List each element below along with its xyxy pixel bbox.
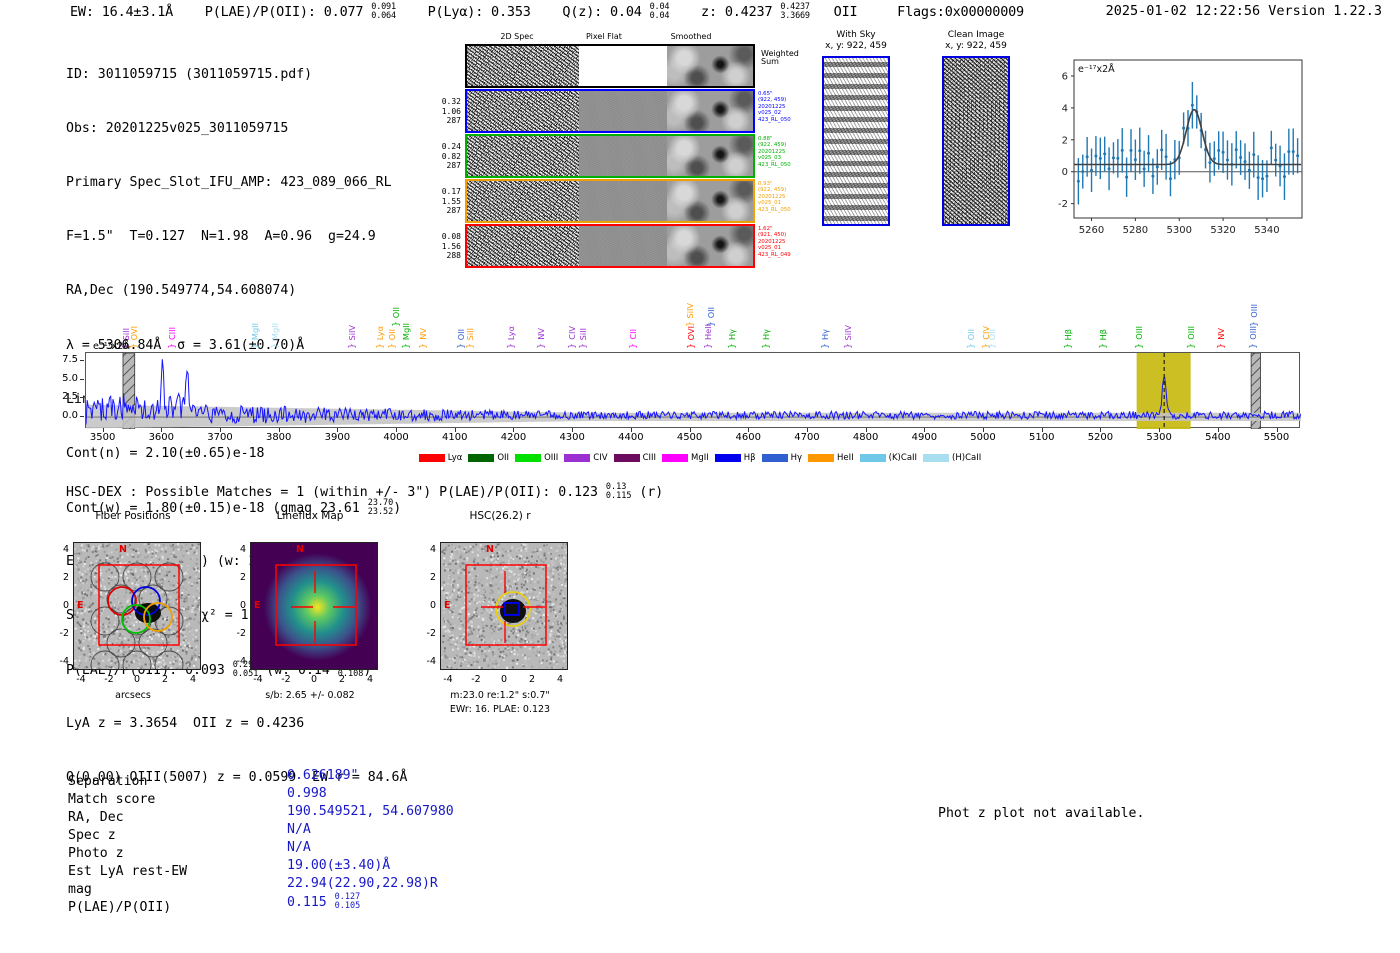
legend-label: MgII (691, 453, 709, 463)
cutout-panel-title: HSC(26.2) r (420, 510, 580, 522)
image-cutouts-group: With Skyx, y: 922, 459Clean Imagex, y: 9… (810, 30, 1030, 260)
cutout-xtick-label: 2 (330, 674, 354, 685)
smoothed-cutout (667, 136, 753, 176)
strip-stats: 0.321.06287 (425, 97, 461, 126)
pixel-flat-cutout (579, 226, 668, 266)
svg-text:6: 6 (1062, 71, 1068, 82)
pixel-flat-cutout (579, 136, 668, 176)
spectrum-line-bracket: { (1062, 343, 1072, 349)
legend-swatch (614, 454, 640, 462)
header-redshift-range: 0.42373.3669 (780, 3, 810, 21)
compass-east: E (444, 600, 451, 611)
svg-text:2: 2 (1062, 135, 1068, 146)
spectrum-xtick-label: 4900 (902, 432, 946, 443)
legend-swatch (808, 454, 834, 462)
spec2d-cutout (467, 181, 579, 221)
spectrum-ytick (80, 379, 84, 380)
cutout-ytick-label: 4 (224, 544, 246, 555)
spectrum-units-label: e⁻¹⁷x2Å (93, 341, 130, 352)
spectrum-line-bracket: { (1097, 343, 1107, 349)
spectrum-line-bracket: { (535, 343, 545, 349)
pixel-flat-cutout (579, 181, 668, 221)
compass-north: N (119, 544, 127, 555)
header-qz-range: 0.040.04 (650, 3, 670, 21)
cutout-ytick-label: 2 (47, 572, 69, 583)
emission-line-profile-plot: 52605280530053205340-20246e⁻¹⁷x2Å (1040, 52, 1310, 252)
match-row-label: Match score (68, 791, 187, 809)
spectrum-line-bracket: { (166, 343, 176, 349)
svg-text:e⁻¹⁷x2Å: e⁻¹⁷x2Å (1078, 63, 1115, 75)
header-flags: Flags:0x00000009 (897, 4, 1024, 20)
cutout-ytick-label: -2 (414, 628, 436, 639)
spectrum-xtick-label: 4300 (550, 432, 594, 443)
cutout-xtick-label: 0 (492, 674, 516, 685)
spectrum-line-label: Hγ (761, 329, 771, 340)
strip-header: Smoothed (661, 32, 721, 41)
cutout-xlabel: s/b: 2.65 +/- 0.082 (228, 690, 392, 701)
header-summary-line: EW: 16.4±3.1Å P(LAE)/P(OII): 0.077 0.091… (70, 3, 1024, 21)
cutout-xtick-label: -4 (246, 674, 270, 685)
cutout-xtick-label: -4 (436, 674, 460, 685)
photz-message: Phot z plot not available. (938, 806, 1144, 821)
spectrum-xtick-label: 4000 (374, 432, 418, 443)
spec2d-strip-row (465, 134, 755, 178)
cutout-ytick-label: -4 (224, 656, 246, 667)
svg-text:-2: -2 (1058, 199, 1068, 210)
legend-item: (K)CaII (860, 453, 917, 463)
spectrum-ytick (80, 416, 84, 417)
legend-swatch (715, 454, 741, 462)
svg-text:5340: 5340 (1254, 225, 1279, 236)
spectrum-line-bracket: { (346, 343, 356, 349)
strip-stats: 0.081.56288 (425, 232, 461, 261)
spectrum-legend: LyαOIIOIIICIVCIIIMgIIHβHγHeII(K)CaII(H)C… (380, 450, 1020, 466)
legend-swatch (923, 454, 949, 462)
spectrum-xtick-label: 4400 (609, 432, 653, 443)
legend-label: HeII (837, 453, 854, 463)
spec2d-cutout (467, 226, 579, 266)
header-plae-poii: P(LAE)/P(OII): 0.077 (205, 4, 364, 20)
spectrum-xtick-label: 5300 (1137, 432, 1181, 443)
cutout-xtick-label: -2 (464, 674, 488, 685)
spec2d-cutout (467, 91, 579, 131)
spectrum-line-label: SiIV (685, 303, 695, 319)
legend-label: (K)CaII (889, 453, 917, 463)
match-row-value: 22.94(22.90,22.98)R (287, 875, 454, 893)
legend-label: Hγ (791, 453, 802, 463)
spectrum-line-label: OIII (1186, 326, 1196, 340)
legend-item: CIII (614, 453, 656, 463)
spectrum-line-label: Lyα (375, 326, 385, 340)
hscdex-summary-line: HSC-DEX : Possible Matches = 1 (within +… (66, 483, 663, 501)
strip-stats: 0.240.82287 (425, 142, 461, 171)
cutout-ytick-label: 0 (414, 600, 436, 611)
svg-text:5280: 5280 (1123, 225, 1148, 236)
spectrum-line-bracket: { (269, 343, 279, 349)
spectrum-line-bracket: { (1248, 321, 1258, 327)
info-line-id: ID: 3011059715 (3011059715.pdf) (66, 66, 407, 84)
legend-item: (H)CaII (923, 453, 981, 463)
spectrum-line-label: SiII (578, 328, 588, 340)
spectrum-line-label: Lyα (506, 326, 516, 340)
legend-item: OII (468, 453, 509, 463)
spectrum-xtick-label: 5400 (1196, 432, 1240, 443)
compass-east: E (254, 600, 261, 611)
strip-metadata: 0.65"(922, 459)20201225v025_02423_RL_050 (758, 91, 806, 123)
spectrum-line-bracket: { (374, 343, 384, 349)
svg-text:5320: 5320 (1210, 225, 1235, 236)
spectrum-line-label: OII (387, 329, 397, 340)
spectrum-line-label: OVI (686, 326, 696, 340)
spectrum-line-bracket: { (683, 321, 693, 327)
spectrum-y-axis: 0.02.55.07.5 (40, 346, 84, 436)
spectrum-line-bracket: { (986, 343, 996, 349)
strip-metadata: 0.88"(922, 459)20201225v025_03423_RL_050 (758, 136, 806, 168)
spectrum-line-label: Hβ (1098, 329, 1108, 340)
cutout-xtick-label: -2 (274, 674, 298, 685)
cutout-xtick-label: 4 (181, 674, 205, 685)
spectrum-ytick-label: 5.0 (40, 373, 78, 384)
match-row-value: N/A (287, 839, 454, 857)
legend-swatch (762, 454, 788, 462)
spectrum-line-label: OIII (1134, 326, 1144, 340)
spec2d-cutout (467, 136, 579, 176)
header-redshift: z: 0.4237 (701, 4, 772, 20)
spectrum-line-label: NV (536, 328, 546, 340)
match-row-label: RA, Dec (68, 809, 187, 827)
match-row-label: P(LAE)/P(OII) (68, 899, 187, 917)
spec2d-cutout (467, 46, 579, 86)
pixel-flat-cutout (579, 91, 668, 131)
spectrum-xtick-label: 4600 (726, 432, 770, 443)
cutout-ytick-label: -4 (414, 656, 436, 667)
cutout-image (250, 542, 378, 670)
spectrum-line-label: Hγ (727, 329, 737, 340)
spectrum-ytick-label: 0.0 (40, 410, 78, 421)
cutout-xtick-label: 2 (520, 674, 544, 685)
spectrum-xtick-label: 4100 (433, 432, 477, 443)
spec2d-strip-row (465, 89, 755, 133)
legend-label: Hβ (744, 453, 756, 463)
info-line-primary-spec: Primary Spec_Slot_IFU_AMP: 423_089_066_R… (66, 174, 407, 192)
spectrum-x-axis: 3500360037003800390040004100420043004400… (85, 428, 1300, 448)
cutout-xlabel: arcsecs (51, 690, 215, 701)
match-row-value: 190.549521, 54.607980 (287, 803, 454, 821)
clean-image (942, 56, 1010, 226)
cutout-title: Clean Imagex, y: 922, 459 (922, 30, 1030, 52)
legend-label: Lyα (448, 453, 463, 463)
spectrum-line-bracket: { (400, 343, 410, 349)
cutout-sublabel: EWr: 16. PLAE: 0.123 (418, 704, 582, 715)
spectrum-line-bracket: { (627, 343, 637, 349)
legend-label: CIV (593, 453, 607, 463)
full-spectrum-plot (85, 352, 1300, 428)
smoothed-cutout (667, 226, 753, 266)
cutout-image (440, 542, 568, 670)
spectrum-line-label: CII (628, 329, 638, 340)
spectrum-line-bracket: { (818, 343, 828, 349)
cutout-xtick-label: 0 (302, 674, 326, 685)
spectrum-xtick-label: 4200 (491, 432, 535, 443)
svg-text:4: 4 (1062, 103, 1068, 114)
cutout-panel-title: Fiber Positions (53, 510, 213, 522)
cutout-ytick-label: 0 (47, 600, 69, 611)
match-row-value: 0.998 (287, 785, 454, 803)
spectrum-line-label: Hγ (820, 329, 830, 340)
svg-text:5300: 5300 (1167, 225, 1192, 236)
spec2d-strip-group: 2D SpecPixel FlatSmoothedWeightedSum0.32… (425, 32, 770, 257)
spectrum-line-label: SiIV (843, 325, 853, 341)
compass-north: N (486, 544, 494, 555)
match-row-value: 0.115 0.1270.105 (287, 893, 454, 911)
legend-swatch (860, 454, 886, 462)
spectrum-line-label: SiII (465, 328, 475, 340)
spectrum-ytick (80, 397, 84, 398)
spec2d-strip-row (465, 224, 755, 268)
spectrum-xtick-label: 3600 (139, 432, 183, 443)
header-qz: Q(z): 0.04 (562, 4, 641, 20)
spectrum-xtick-label: 5500 (1255, 432, 1299, 443)
spectrum-xtick-label: 5100 (1020, 432, 1064, 443)
legend-label: OII (497, 453, 509, 463)
cutout-panel: Lineflux MapNE-4-4-2-2002244s/b: 2.65 +/… (240, 510, 440, 740)
strip-metadata: 0.93"(922, 459)20201225v025_01423_RL_050 (758, 181, 806, 213)
cutout-image (73, 542, 201, 670)
spectrum-line-bracket: { (390, 321, 400, 327)
cutout-panels-group: Fiber PositionsNE-4-4-2-2002244arcsecsLi… (55, 510, 675, 740)
header-datetime: 2025-01-02 12:22:56 Version 1.22.3 (1106, 3, 1382, 19)
match-row-label: Photo z (68, 845, 187, 863)
legend-label: (H)CaII (952, 453, 981, 463)
match-row-label: mag (68, 881, 187, 899)
cutout-xtick-label: 0 (125, 674, 149, 685)
cutout-xlabel: m:23.0 re:1.2" s:0.7" (418, 690, 582, 701)
spectrum-line-bracket: { (249, 343, 259, 349)
legend-item: Hβ (715, 453, 756, 463)
spectrum-line-label: NV (418, 328, 428, 340)
spectrum-ytick-label: 7.5 (40, 354, 78, 365)
smoothed-cutout (667, 46, 753, 86)
spectrum-line-label: OIII (1248, 326, 1258, 340)
info-line-obs: Obs: 20201225v025_3011059715 (66, 120, 407, 138)
spectrum-line-bracket: { (685, 343, 695, 349)
spectrum-xtick-label: 3700 (198, 432, 242, 443)
pixel-flat-cutout (579, 46, 668, 86)
spectrum-line-bracket: { (566, 343, 576, 349)
spectrum-line-bracket: { (417, 343, 427, 349)
match-table-values: 0.626189"0.998190.549521, 54.607980N/AN/… (287, 767, 454, 911)
cutout-ytick-label: -2 (224, 628, 246, 639)
header-species: OII (834, 4, 858, 20)
spectrum-line-bracket: { (386, 343, 396, 349)
cutout-panel: HSC(26.2) rNE-4-4-2-2002244m:23.0 re:1.2… (430, 510, 630, 740)
legend-swatch (564, 454, 590, 462)
match-row-value: N/A (287, 821, 454, 839)
legend-item: MgII (662, 453, 709, 463)
cutout-xtick-label: 4 (358, 674, 382, 685)
spectrum-line-bracket: { (1132, 343, 1142, 349)
header-ew: EW: 16.4±3.1Å (70, 4, 173, 20)
line-profile-svg: 52605280530053205340-20246e⁻¹⁷x2Å (1040, 52, 1310, 252)
match-table-labels: SeparationMatch scoreRA, DecSpec zPhoto … (68, 773, 187, 917)
spectrum-ytick-label: 2.5 (40, 391, 78, 402)
match-row-label: Est LyA rest-EW (68, 863, 187, 881)
spectrum-xtick-label: 3500 (81, 432, 125, 443)
spectrum-line-bracket: { (505, 343, 515, 349)
spectrum-line-label: OII (966, 329, 976, 340)
spectrum-xtick-label: 4700 (785, 432, 829, 443)
spectrum-line-bracket: { (965, 343, 975, 349)
spectrum-line-label: CIII (167, 327, 177, 340)
spectrum-line-label: NV (1216, 328, 1226, 340)
cutout-xtick-label: -4 (69, 674, 93, 685)
spectrum-line-label: OII (706, 307, 716, 318)
legend-item: Lyα (419, 453, 463, 463)
spectrum-line-bracket: { (842, 343, 852, 349)
legend-label: OIII (544, 453, 558, 463)
cutout-ytick-label: -2 (47, 628, 69, 639)
svg-text:0: 0 (1062, 167, 1068, 178)
spectrum-line-label: OII (987, 329, 997, 340)
value-range: 0.130.115 (606, 483, 632, 501)
strip-header: Pixel Flat (574, 32, 634, 41)
spectrum-xtick-label: 3900 (315, 432, 359, 443)
spectrum-line-bracket: { (1185, 343, 1195, 349)
with-sky-image (822, 56, 890, 226)
compass-north: N (296, 544, 304, 555)
match-row-value: 0.626189" (287, 767, 454, 785)
header-plya: P(Lyα): 0.353 (428, 4, 531, 20)
cutout-ytick-label: -4 (47, 656, 69, 667)
spectrum-line-label: SiIV (347, 325, 357, 341)
match-row-label: Spec z (68, 827, 187, 845)
spectrum-line-label: CIV (567, 326, 577, 340)
spectrum-ytick (80, 360, 84, 361)
info-line-seeing: F=1.5" T=0.127 N=1.98 A=0.96 g=24.9 (66, 228, 407, 246)
legend-swatch (468, 454, 494, 462)
weighted-sum-label: WeightedSum (761, 50, 809, 66)
svg-text:5260: 5260 (1079, 225, 1104, 236)
cutout-ytick-label: 4 (47, 544, 69, 555)
spectrum-line-bracket: { (1215, 343, 1225, 349)
spectrum-line-bracket: { (577, 343, 587, 349)
spectrum-xtick-label: 4500 (668, 432, 712, 443)
spec2d-strip-row (465, 44, 755, 88)
spectrum-line-bracket: { (702, 343, 712, 349)
value-range: 0.1270.105 (335, 893, 361, 911)
legend-item: CIV (564, 453, 607, 463)
compass-east: E (77, 600, 84, 611)
strip-metadata: 1.62"(921, 450)20201225v025_01423_RL_049 (758, 226, 806, 258)
spectrum-xtick-label: 5000 (961, 432, 1005, 443)
cutout-ytick-label: 0 (224, 600, 246, 611)
legend-label: CIII (643, 453, 656, 463)
match-row-value: 19.00(±3.40)Å (287, 857, 454, 875)
legend-swatch (515, 454, 541, 462)
legend-item: Hγ (762, 453, 802, 463)
spectrum-xtick-label: 5200 (1078, 432, 1122, 443)
legend-swatch (662, 454, 688, 462)
legend-swatch (419, 454, 445, 462)
spectrum-line-bracket: { (726, 343, 736, 349)
strip-header: 2D Spec (487, 32, 547, 41)
spectrum-xtick-label: 3800 (257, 432, 301, 443)
spectrum-line-label: OIII (1249, 304, 1259, 318)
smoothed-cutout (667, 181, 753, 221)
cutout-ytick-label: 2 (414, 572, 436, 583)
spectrum-line-labels: SiII{OVI{CIII{MgII{MgII{SiIV{Lyα{OII{OII… (85, 276, 1300, 352)
spectrum-line-bracket: { (464, 343, 474, 349)
legend-item: OIII (515, 453, 558, 463)
legend-item: HeII (808, 453, 854, 463)
spectrum-line-label: MgII (401, 323, 411, 340)
cutout-ytick-label: 2 (224, 572, 246, 583)
strip-stats: 0.171.55287 (425, 187, 461, 216)
spectrum-line-label: Hβ (1063, 329, 1073, 340)
cutout-title: With Skyx, y: 922, 459 (802, 30, 910, 52)
cutout-panel-title: Lineflux Map (230, 510, 390, 522)
match-row-label: Separation (68, 773, 187, 791)
spectrum-line-bracket: { (760, 343, 770, 349)
spectrum-svg (86, 353, 1301, 429)
spectrum-xtick-label: 4800 (844, 432, 888, 443)
cutout-xtick-label: -2 (97, 674, 121, 685)
cutout-xtick-label: 4 (548, 674, 572, 685)
spectrum-line-bracket: { (1247, 343, 1257, 349)
cutout-ytick-label: 4 (414, 544, 436, 555)
spectrum-line-label: OII (391, 307, 401, 318)
spectrum-line-label: OVI (129, 326, 139, 340)
spectrum-line-label: MgII (250, 323, 260, 340)
smoothed-cutout (667, 91, 753, 131)
spec2d-strip-row (465, 179, 755, 223)
spectrum-line-bracket: { (705, 321, 715, 327)
cutout-xtick-label: 2 (153, 674, 177, 685)
header-plae-poii-range: 0.0910.064 (371, 3, 396, 21)
spectrum-line-label: MgII (270, 323, 280, 340)
